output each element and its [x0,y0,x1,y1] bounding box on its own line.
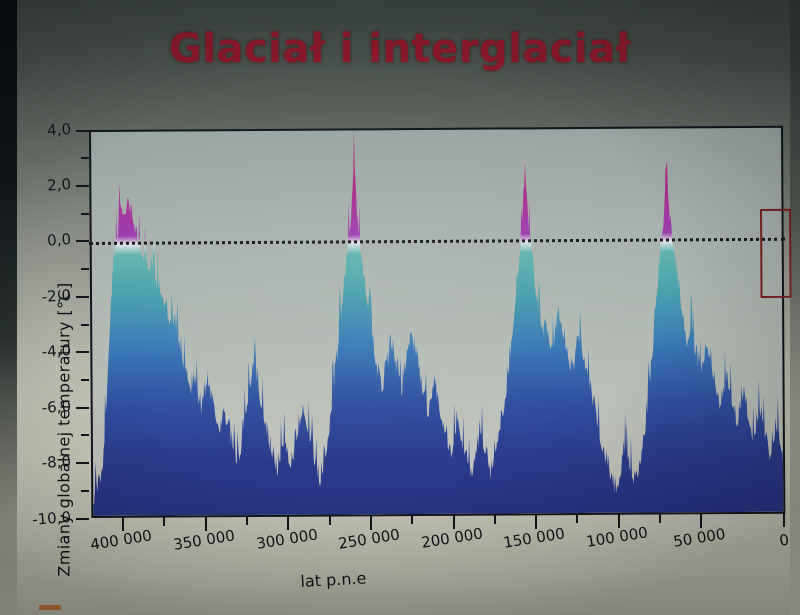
y-tick-major [76,351,89,353]
x-tick-label: 300 000 [255,526,319,553]
x-tick-major [535,515,537,529]
x-tick-label: 150 000 [502,524,566,551]
x-tick-minor [411,515,413,524]
y-tick-major [76,185,89,187]
y-tick-major [76,518,89,520]
y-tick-minor [81,213,89,215]
x-tick-major [453,515,455,529]
x-tick-label: 100 000 [585,524,649,551]
y-tick-label: 4,0 [0,120,72,143]
x-tick-major [700,514,702,528]
x-tick-label: 350 000 [172,526,236,553]
x-tick-major [287,516,289,530]
x-tick-label: 250 000 [337,525,401,552]
y-tick-minor [81,434,89,436]
axis-ticks-layer: 4,02,00,0-2,0-4,0-6,0-8,0-10,0400 000350… [0,0,800,615]
x-tick-major [122,517,124,531]
slide-canvas: Glaciał i interglaciał 4,02,00,0-2,0-4,0… [0,0,800,615]
y-tick-major [76,407,89,409]
y-tick-minor [81,157,89,159]
x-tick-minor [329,516,331,525]
x-tick-label: 50 000 [672,525,727,551]
y-tick-minor [81,379,89,381]
y-tick-major [76,130,89,132]
chart-figure: 4,02,00,0-2,0-4,0-6,0-8,0-10,0400 000350… [0,0,800,615]
x-tick-minor [163,517,165,526]
x-tick-label: 200 000 [420,525,484,552]
x-tick-major [205,517,207,531]
y-axis-title: Zmiany globalnej temperatury [°C] [55,230,74,615]
y-tick-major [76,240,89,242]
y-tick-major [76,462,89,464]
x-tick-major [783,513,785,527]
x-tick-label: 400 000 [89,527,153,554]
screen-bottom-marker [39,605,61,610]
y-axis-title-holder: Zmiany globalnej temperatury [°C] [34,120,35,121]
y-tick-label: 2,0 [0,175,72,198]
x-tick-minor [659,514,661,523]
x-tick-label: 0 [778,531,790,550]
x-tick-minor [494,515,496,524]
x-axis-title: lat p.n.e [300,569,367,591]
x-tick-minor [246,516,248,525]
y-tick-minor [81,268,89,270]
x-tick-minor [576,514,578,523]
x-tick-major [370,516,372,530]
y-tick-minor [81,324,89,326]
y-tick-minor [81,490,89,492]
y-tick-major [76,296,89,298]
x-tick-major [618,514,620,528]
